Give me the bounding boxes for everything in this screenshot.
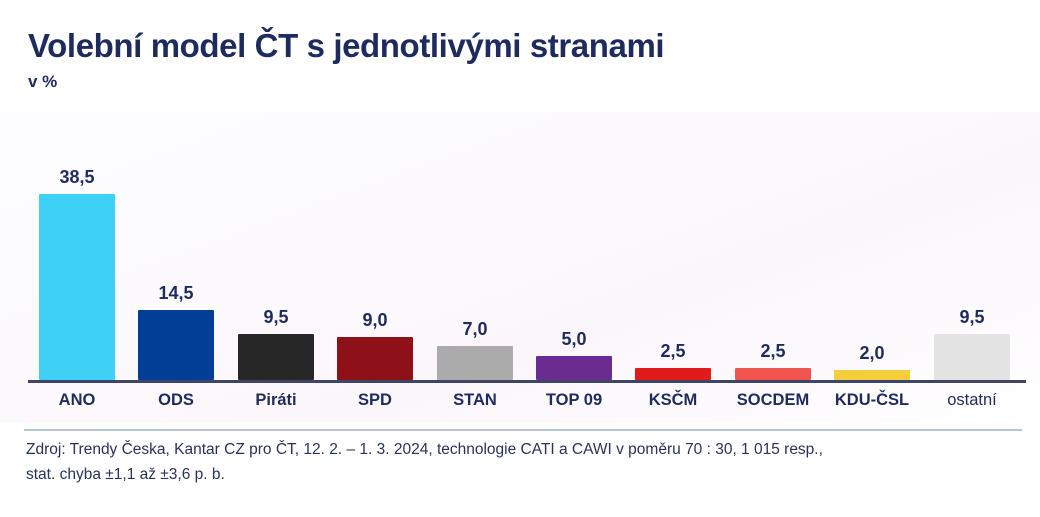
- category-label-spd: SPD: [326, 387, 424, 413]
- bar-value-label: 9,5: [923, 307, 1021, 327]
- bar-group-spd[interactable]: 9,0: [326, 112, 424, 380]
- bar-value-label: 2,5: [624, 341, 722, 361]
- bar-group-top-09[interactable]: 5,0: [525, 112, 623, 380]
- category-label-top-09: TOP 09: [525, 387, 623, 413]
- bar-value-label: 2,0: [823, 343, 921, 363]
- bar-value-label: 14,5: [127, 283, 225, 303]
- bar-value-label: 5,0: [525, 329, 623, 349]
- bar-group-socdem[interactable]: 2,5: [724, 112, 822, 380]
- bar-rect[interactable]: [635, 368, 711, 380]
- category-label-stan: STAN: [426, 387, 524, 413]
- chart-plot-area: 38,514,59,59,07,05,02,52,52,09,5 ANOODSP…: [0, 112, 1040, 422]
- bar-value-label: 38,5: [28, 167, 126, 187]
- category-label-pir-ti: Piráti: [227, 387, 325, 413]
- bar-group-ano[interactable]: 38,5: [28, 112, 126, 380]
- bar-rect[interactable]: [735, 368, 811, 380]
- bar-rect[interactable]: [834, 370, 910, 380]
- footer-divider: [24, 429, 1022, 431]
- source-note-line-2: stat. chyba ±1,1 až ±3,6 p. b.: [26, 462, 1026, 487]
- chart-subtitle: v %: [28, 72, 1040, 92]
- bar-group-stan[interactable]: 7,0: [426, 112, 524, 380]
- category-label-ostatn-: ostatní: [923, 387, 1021, 413]
- source-note-line-1: Zdroj: Trendy Česka, Kantar CZ pro ČT, 1…: [26, 437, 1026, 462]
- bar-rect[interactable]: [337, 337, 413, 380]
- bar-group-ods[interactable]: 14,5: [127, 112, 225, 380]
- bar-value-label: 9,5: [227, 307, 325, 327]
- source-note: Zdroj: Trendy Česka, Kantar CZ pro ČT, 1…: [26, 437, 1026, 487]
- category-label-kdu-sl: KDU-ČSL: [823, 387, 921, 413]
- chart-header: Volební model ČT s jednotlivými stranami…: [0, 0, 1040, 112]
- bar-rect[interactable]: [934, 334, 1010, 380]
- category-label-ods: ODS: [127, 387, 225, 413]
- bar-value-label: 9,0: [326, 310, 424, 330]
- x-axis-category-labels: ANOODSPirátiSPDSTANTOP 09KSČMSOCDEMKDU-Č…: [28, 387, 1022, 417]
- bar-group-kdu-sl[interactable]: 2,0: [823, 112, 921, 380]
- bar-group-ostatn-[interactable]: 9,5: [923, 112, 1021, 380]
- category-label-ks-m: KSČM: [624, 387, 722, 413]
- bar-rect[interactable]: [138, 310, 214, 380]
- bar-series-container: 38,514,59,59,07,05,02,52,52,09,5: [28, 112, 1022, 380]
- bar-rect[interactable]: [238, 334, 314, 380]
- bar-value-label: 7,0: [426, 319, 524, 339]
- category-label-socdem: SOCDEM: [724, 387, 822, 413]
- bar-rect[interactable]: [39, 194, 115, 380]
- bar-rect[interactable]: [437, 346, 513, 380]
- page-title: Volební model ČT s jednotlivými stranami: [28, 26, 1040, 66]
- bar-group-pir-ti[interactable]: 9,5: [227, 112, 325, 380]
- x-axis-line: [28, 380, 1026, 383]
- bar-group-ks-m[interactable]: 2,5: [624, 112, 722, 380]
- bar-rect[interactable]: [536, 356, 612, 380]
- category-label-ano: ANO: [28, 387, 126, 413]
- bar-value-label: 2,5: [724, 341, 822, 361]
